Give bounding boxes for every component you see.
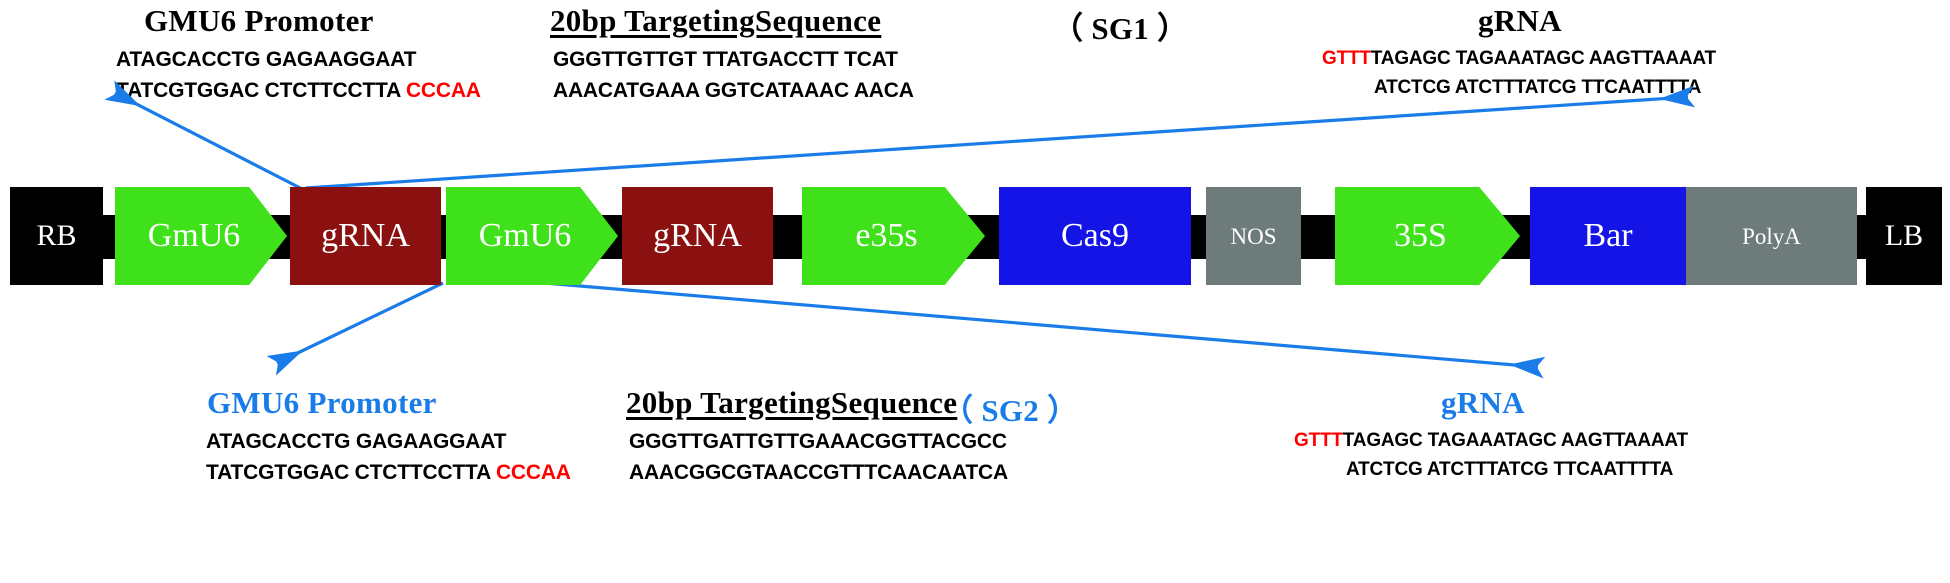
bottom-target-seq-line1: GGGTTGATTGTTGAAACGGTTACGCC — [629, 430, 1007, 454]
box-shape-icon — [999, 187, 1191, 285]
bottom-target-tag: （ SG2 ） — [942, 385, 1078, 430]
construct-map: RBGmU6gRNAGmU6gRNAe35sCas9NOS35SBarPolyA… — [10, 187, 1942, 285]
top-target-title: 20bp TargetingSequence — [550, 3, 881, 39]
box-shape-icon — [622, 187, 773, 285]
arrow-shape-icon — [1335, 187, 1520, 285]
box-shape-icon — [1686, 187, 1857, 285]
top-promoter-seq-line2-red: CCCAA — [406, 79, 481, 102]
bottom-promoter-title: GMU6 Promoter — [207, 385, 437, 421]
top-grna-seq-line2: ATCTCG ATCTTTATCG TTCAATTTTA — [1374, 77, 1701, 99]
bottom-target-seq-line2: AAACGGCGTAACCGTTTCAACAATCA — [629, 461, 1008, 485]
construct-element-cas9-6[interactable]: Cas9 — [999, 187, 1191, 285]
top-promoter-seq-line2-black: TATCGTGGAC CTCTTCCTTA — [116, 79, 406, 102]
top-target-tag: （ SG1 ） — [1052, 3, 1188, 48]
top-target-seq-line2: AAACATGAAA GGTCATAAAC AACA — [553, 79, 914, 103]
arrow-shape-icon — [446, 187, 618, 285]
arrow-bottom-promoter — [277, 283, 443, 363]
construct-element-35s-8[interactable]: 35S — [1335, 187, 1520, 285]
arrow-bottom-grna — [533, 282, 1538, 367]
top-grna-seq-line1: GTTTTAGAGC TAGAAATAGC AAGTTAAAAT — [1322, 48, 1716, 70]
top-target-seq-line1: GGGTTGTTGT TTATGACCTT TCAT — [553, 48, 898, 72]
bottom-promoter-seq-line1: ATAGCACCTG GAGAAGGAAT — [206, 430, 506, 454]
top-target-title-wrap: 20bp TargetingSequence — [550, 3, 881, 39]
top-promoter-seq-line2: TATCGTGGAC CTCTTCCTTA CCCAA — [116, 79, 481, 103]
bottom-grna-seq-line1: GTTTTAGAGC TAGAAATAGC AAGTTAAAAT — [1294, 430, 1688, 452]
bottom-target-title: 20bp TargetingSequence — [626, 385, 957, 421]
bottom-grna-title: gRNA — [1441, 385, 1525, 421]
top-grna-seq-line1-black: TAGAGC TAGAAATAGC AAGTTAAAAT — [1371, 48, 1716, 69]
top-grna-title: gRNA — [1478, 3, 1562, 39]
bottom-grna-seq-line1-black: TAGAGC TAGAAATAGC AAGTTAAAAT — [1343, 430, 1688, 451]
box-shape-icon — [10, 187, 103, 285]
construct-element-lb-11[interactable]: LB — [1866, 187, 1942, 285]
bottom-promoter-seq-line2-black: TATCGTGGAC CTCTTCCTTA — [206, 461, 496, 484]
construct-element-gmu6-1[interactable]: GmU6 — [115, 187, 287, 285]
bottom-grna-seq-line1-red: GTTT — [1294, 430, 1343, 451]
top-grna-seq-line1-red: GTTT — [1322, 48, 1371, 69]
top-promoter-title: GMU6 Promoter — [144, 3, 374, 39]
bottom-promoter-seq-line2: TATCGTGGAC CTCTTCCTTA CCCAA — [206, 461, 571, 485]
bottom-grna-title-wrap: gRNA — [1441, 385, 1525, 421]
construct-element-polya-10[interactable]: PolyA — [1686, 187, 1857, 285]
construct-element-e35s-5[interactable]: e35s — [802, 187, 985, 285]
arrow-shape-icon — [802, 187, 985, 285]
arrow-top-grna — [306, 97, 1688, 188]
box-shape-icon — [1530, 187, 1686, 285]
construct-element-gmu6-3[interactable]: GmU6 — [446, 187, 618, 285]
top-promoter-seq-line1: ATAGCACCTG GAGAAGGAAT — [116, 48, 416, 72]
arrow-top-promoter — [115, 93, 310, 193]
bottom-promoter-seq-line2-red: CCCAA — [496, 461, 571, 484]
top-grna-title-wrap: gRNA — [1478, 3, 1562, 39]
bottom-grna-seq-line2: ATCTCG ATCTTTATCG TTCAATTTTA — [1346, 459, 1673, 481]
box-shape-icon — [290, 187, 441, 285]
box-shape-icon — [1206, 187, 1301, 285]
top-promoter-title-wrap: GMU6 Promoter — [144, 3, 374, 39]
box-shape-icon — [1866, 187, 1942, 285]
construct-element-rb-0[interactable]: RB — [10, 187, 103, 285]
arrow-shape-icon — [115, 187, 287, 285]
construct-element-grna-2[interactable]: gRNA — [290, 187, 441, 285]
bottom-promoter-title-wrap: GMU6 Promoter — [207, 385, 437, 421]
bottom-target-title-wrap: 20bp TargetingSequence — [626, 385, 957, 421]
construct-element-grna-4[interactable]: gRNA — [622, 187, 773, 285]
construct-element-nos-7[interactable]: NOS — [1206, 187, 1301, 285]
construct-element-bar-9[interactable]: Bar — [1530, 187, 1686, 285]
